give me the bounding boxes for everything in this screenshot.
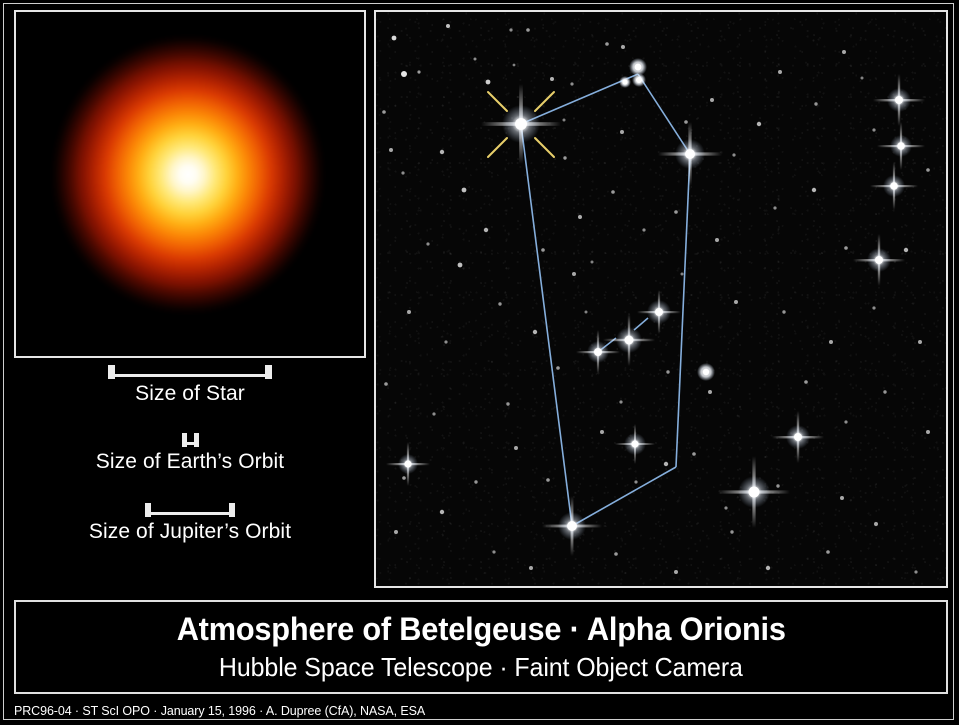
scale-bar-cap-left: [108, 365, 115, 379]
star-meissa-group: [619, 58, 647, 88]
scale-row-jupiter-orbit: Size of Jupiter’s Orbit: [14, 503, 366, 544]
betelgeuse-disk: [38, 21, 338, 341]
scale-bar-star: [108, 365, 272, 379]
poster-title: Atmosphere of Betelgeuse · Alpha Orionis: [176, 612, 785, 647]
scale-bar-cap-left: [182, 433, 187, 447]
scale-bar-jupiter-orbit: [145, 503, 235, 517]
caption-panel: Atmosphere of Betelgeuse · Alpha Orionis…: [14, 600, 948, 694]
scale-row-earth-orbit: Size of Earth’s Orbit: [14, 433, 366, 474]
scale-bar-line: [145, 512, 235, 515]
star-right-column-2: [877, 122, 925, 170]
star-mintaka: [637, 290, 681, 334]
star-right-column-3: [870, 162, 918, 210]
poster-root: Size of Star Size of Earth’s Orbit Size …: [0, 0, 959, 725]
line-rigel-saiph: [572, 467, 676, 526]
star-alnilam: [603, 314, 655, 366]
scale-bar-cap-right: [194, 433, 199, 447]
star-rigel: [718, 456, 790, 528]
line-saiph-betelgeuse: [521, 124, 572, 526]
star-mid-field: [697, 363, 715, 381]
scale-bar-cap-right: [229, 503, 235, 517]
line-belt-b: [634, 318, 648, 330]
scale-bar-line: [108, 374, 272, 377]
bright-stars: [386, 58, 925, 556]
scale-bar-group: Size of Star Size of Earth’s Orbit Size …: [14, 365, 366, 585]
star-trapezium: [615, 424, 655, 464]
scale-label-star: Size of Star: [14, 382, 366, 406]
background-star-field: [382, 24, 930, 574]
scale-label-jupiter-orbit: Size of Jupiter’s Orbit: [14, 520, 366, 544]
scale-label-earth-orbit: Size of Earth’s Orbit: [14, 450, 366, 474]
credit-line: PRC96-04 · ST ScI OPO · January 15, 1996…: [14, 704, 425, 718]
betelgeuse-image-panel: [14, 10, 366, 358]
orion-star-chart: [376, 12, 946, 586]
orion-sky-panel: [374, 10, 948, 588]
star-bellatrix: [658, 122, 722, 186]
scale-bar-earth-orbit: [182, 433, 199, 447]
constellation-lines: [521, 74, 690, 526]
star-right-column-1: [873, 74, 925, 126]
scale-bar-cap-left: [145, 503, 151, 517]
scale-bar-cap-right: [265, 365, 272, 379]
line-bellatrix-rigel: [676, 154, 690, 467]
star-alnitak: [576, 330, 620, 374]
star-right-column-5: [772, 411, 824, 463]
star-saiph: [542, 496, 602, 556]
scale-row-star: Size of Star: [14, 365, 366, 406]
star-left-field: [386, 442, 430, 486]
star-right-column-4: [853, 234, 905, 286]
poster-subtitle: Hubble Space Telescope · Faint Object Ca…: [219, 653, 743, 682]
